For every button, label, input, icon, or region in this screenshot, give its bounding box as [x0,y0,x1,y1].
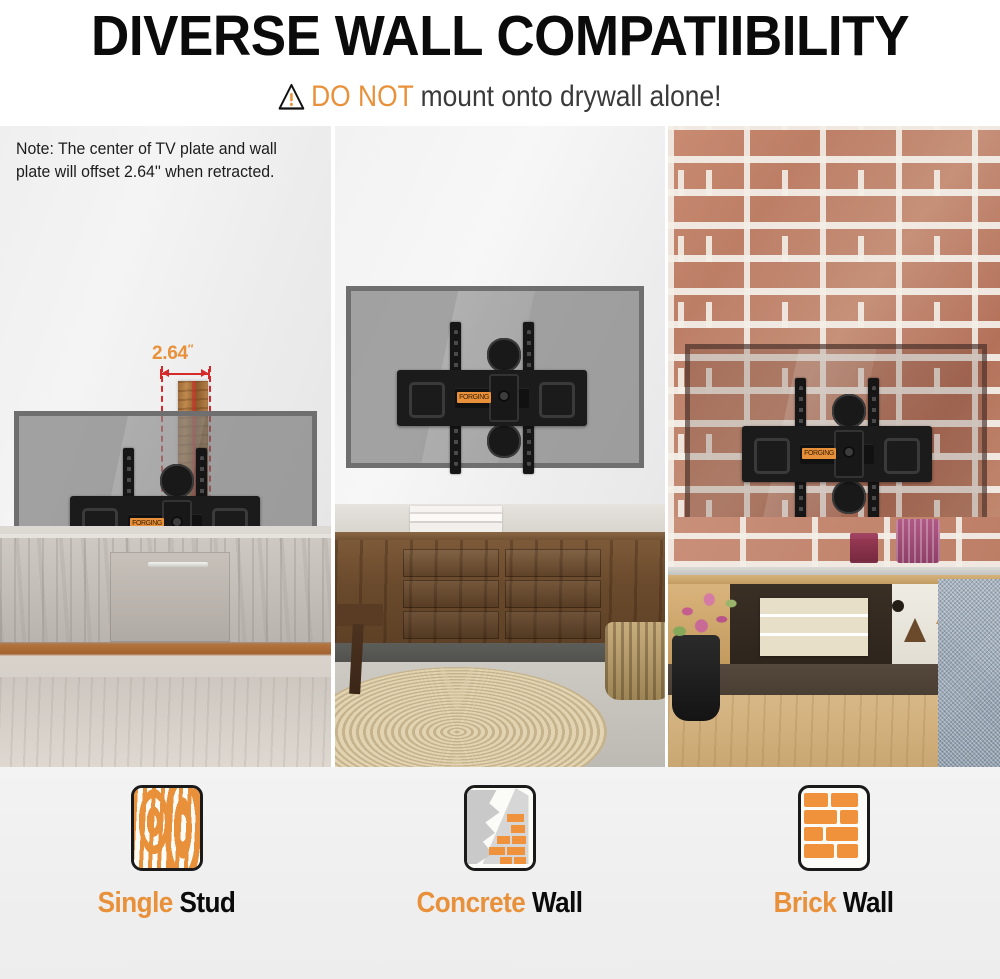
icon-brick [514,857,526,864]
infographic-page: DIVERSE WALL COMPATIIBILITY DO NOT mount… [0,0,1000,979]
label-plain-word: Wall [836,887,893,919]
heather-plant [668,585,742,651]
wall-type-label: Concrete Wall [350,887,650,920]
brick-row [804,827,858,841]
icon-brick [500,857,512,864]
label-accent-word: Brick [774,887,837,919]
grey-plank-floor [0,677,331,767]
sideboard-drawer [505,611,601,639]
wall-type-label: Brick Wall [684,887,984,920]
icon-brick [804,827,823,841]
mount-pivot [489,374,519,422]
brick-row [804,844,858,858]
label-accent-word: Single [98,887,173,919]
mount-knuckle-bottom [487,424,521,458]
grey-wood-console [0,534,331,642]
header: DIVERSE WALL COMPATIIBILITY DO NOT mount… [0,0,1000,126]
icon-brick [840,810,858,824]
sideboard-drawer [505,549,601,577]
book-stack [410,506,502,532]
tv-mount-bracket: FORGING [742,378,932,530]
wall-type-row: Single Stud Concrete Wall [0,767,1000,979]
wood-grain-icon [131,785,203,871]
wood-grain-pattern [134,788,200,868]
dimension-unit: ″ [188,342,193,356]
icon-brick [512,836,526,844]
brick-row [804,793,858,807]
icon-brick [804,810,837,824]
dimension-arrow-right-icon [201,369,208,377]
brick-pattern-icon [798,785,870,871]
wall-type-label: Single Stud [17,887,317,920]
icon-brick [826,827,858,841]
sideboard-drawer [403,611,499,639]
wall-type-brick-wall[interactable]: Brick Wall [667,785,1000,920]
label-accent-word: Concrete [416,887,525,919]
icon-brick [511,825,525,833]
tv-mount-bracket: FORGING [397,322,587,474]
offset-note: Note: The center of TV plate and wall pl… [16,138,304,184]
purple-glass-vase [896,519,940,563]
wall-type-concrete-wall[interactable]: Concrete Wall [333,785,666,920]
mount-knuckle-top [160,464,194,498]
wall-type-single-stud[interactable]: Single Stud [0,785,333,920]
subtitle-rest-text: mount onto drywall alone! [413,80,721,113]
brand-label: FORGING [457,392,491,403]
label-plain-word: Stud [173,887,236,919]
icon-brick [804,793,828,807]
console-triangle-motif [904,618,926,642]
lower-brick-band [668,517,1000,567]
icon-brick [489,847,505,855]
icon-brick [831,793,858,807]
concrete-room-scene [335,504,665,767]
panel-strip: Note: The center of TV plate and wall pl… [0,126,1000,767]
panel-concrete-wall: FORGING [335,126,665,767]
concrete-crack-icon [464,785,536,871]
warning-triangle-icon [279,80,305,122]
panel-single-stud: Note: The center of TV plate and wall pl… [0,126,331,767]
icon-brick [507,814,524,822]
sideboard-drawer [505,580,601,608]
page-title: DIVERSE WALL COMPATIIBILITY [35,4,965,68]
brick-room-scene [668,517,1000,767]
console-handle [148,562,208,567]
mount-pivot [834,430,864,478]
label-plain-word: Wall [525,887,582,919]
purple-candle-holder [850,533,878,563]
brand-label: FORGING [802,448,836,459]
panel-brick-wall: FORGING [668,126,1000,767]
console-knob [892,600,904,612]
woven-basket [605,622,665,700]
dimension-arrow-left-icon [162,369,169,377]
shelf-book-stack [760,598,868,656]
concrete-pattern [467,788,533,868]
mount-knuckle-top [487,338,521,372]
warning-subtitle: DO NOT mount onto drywall alone! [60,76,940,122]
do-not-text: DO NOT [311,80,413,113]
dimension-label: 2.64″ [152,342,193,365]
icon-brick [837,844,858,858]
icon-brick [507,847,525,855]
icon-brick [804,844,834,858]
mount-knuckle-top [832,394,866,428]
upholstered-chair [938,579,1000,767]
icon-brick [497,836,510,844]
stud-room-scene [0,526,331,767]
brick-row [804,810,858,824]
mount-knuckle-bottom [832,480,866,514]
sideboard-drawer [403,580,499,608]
sideboard-drawer [403,549,499,577]
dimension-value: 2.64 [152,343,188,364]
